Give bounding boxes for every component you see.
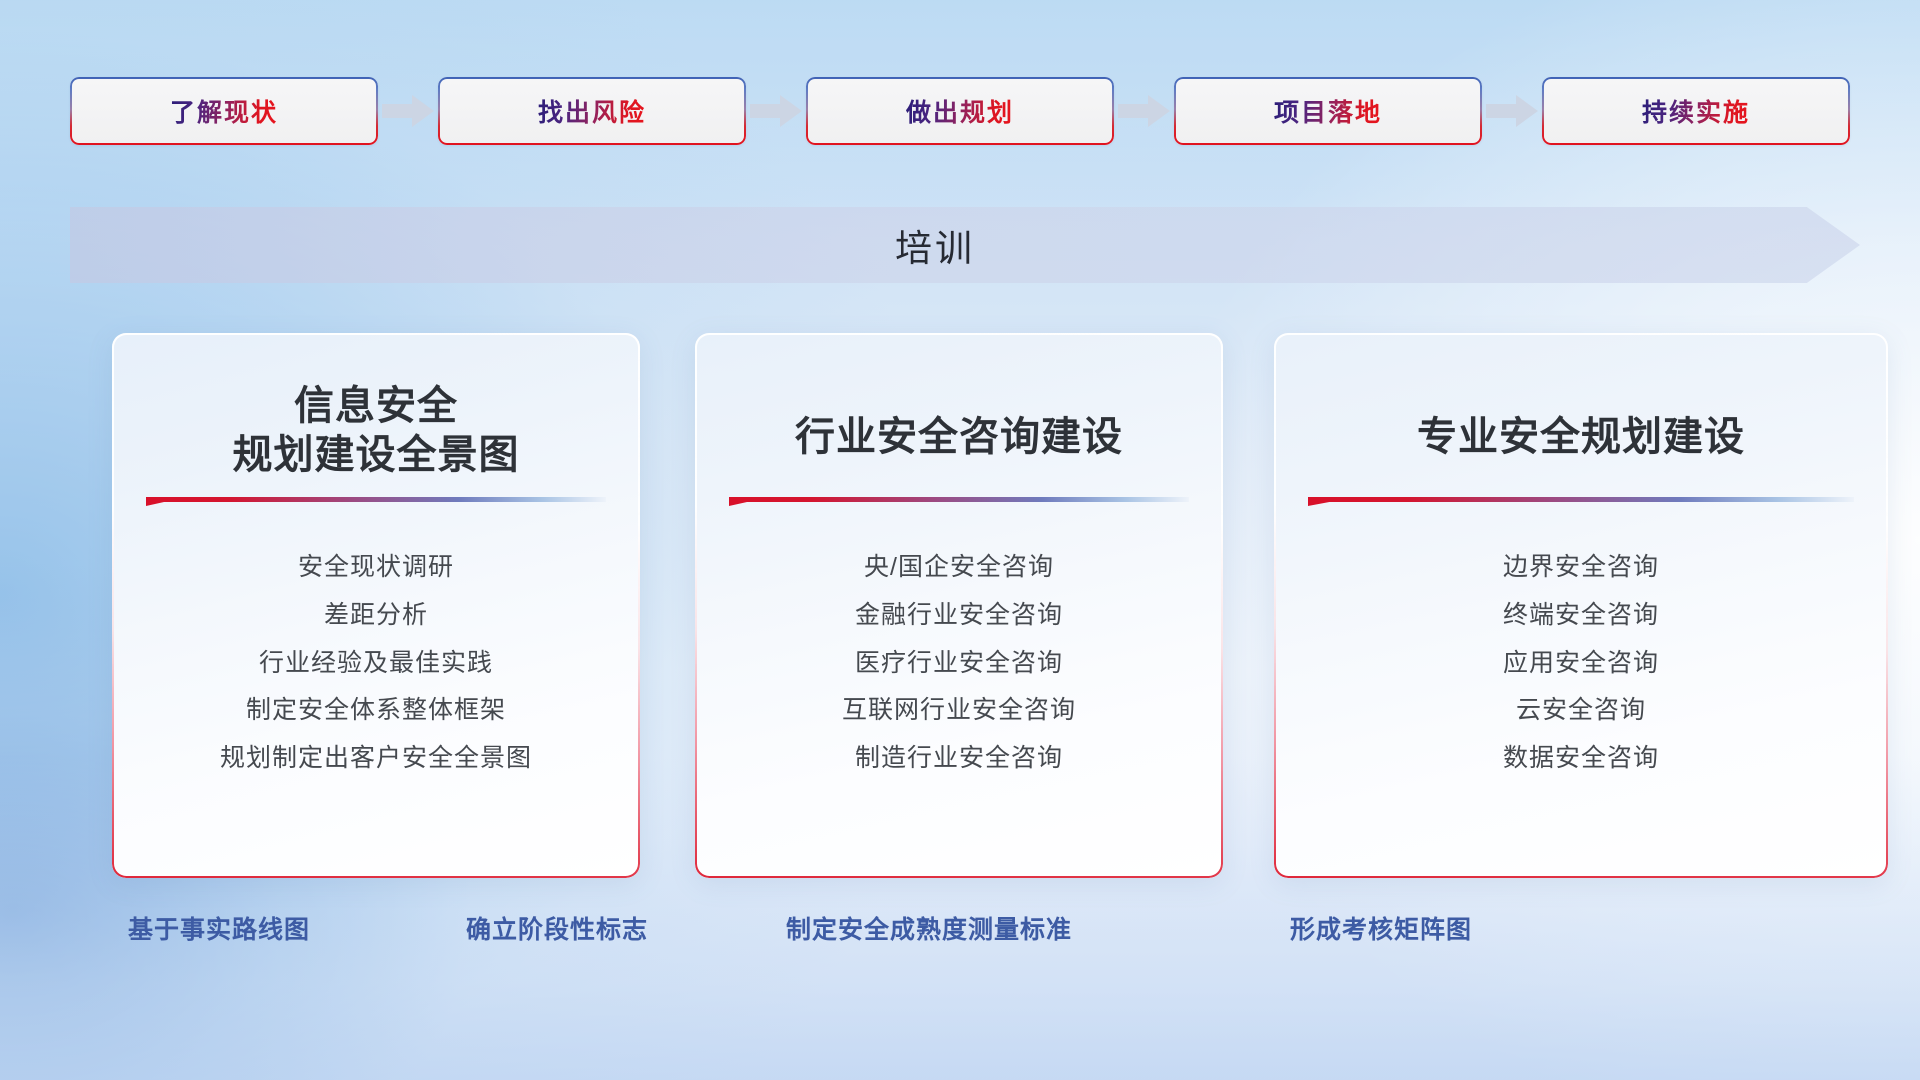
card-title: 信息安全 规划建设全景图 [146,333,606,493]
step-arrow-1 [378,94,438,128]
step-box-1[interactable]: 了解现状 [70,77,378,145]
step-label: 做出规划 [906,93,1014,129]
list-item: 云安全咨询 [1516,694,1646,728]
card-inner: 信息安全 规划建设全景图 [112,333,640,878]
card-industry-security-consulting[interactable]: 行业安全咨询建设 [695,333,1223,878]
card-divider [146,495,606,509]
card-divider [729,495,1189,509]
step-arrow-2 [746,94,806,128]
card-title-line: 专业安全规划建设 [1308,413,1854,462]
card-item-list: 央/国企安全咨询 金融行业安全咨询 医疗行业安全咨询 互联网行业安全咨询 制造行… [729,551,1189,776]
list-item: 央/国企安全咨询 [864,551,1054,585]
footer-label: 制定安全成熟度测量标准 [786,910,1072,946]
card-title-line: 规划建设全景图 [146,431,606,480]
footer-label: 确立阶段性标志 [466,910,648,946]
step-arrow-4 [1482,94,1542,128]
list-item: 金融行业安全咨询 [855,599,1063,633]
footer-label: 形成考核矩阵图 [1290,910,1472,946]
card-inner: 专业安全规划建设 [1274,333,1888,878]
list-item: 行业经验及最佳实践 [259,647,493,681]
list-item: 医疗行业安全咨询 [855,647,1063,681]
step-label: 项目落地 [1274,93,1382,129]
card-information-security-blueprint[interactable]: 信息安全 规划建设全景图 [112,333,640,878]
slide-canvas: 了解现状 找出风险 做出规划 项目落地 [0,0,1920,1080]
card-title: 行业安全咨询建设 [729,333,1189,493]
footer-label: 基于事实路线图 [128,910,310,946]
list-item: 安全现状调研 [298,551,454,585]
step-arrow-3 [1114,94,1174,128]
card-inner: 行业安全咨询建设 [695,333,1223,878]
list-item: 数据安全咨询 [1503,742,1659,776]
list-item: 互联网行业安全咨询 [842,694,1076,728]
card-item-list: 边界安全咨询 终端安全咨询 应用安全咨询 云安全咨询 数据安全咨询 [1308,551,1854,776]
step-box-2[interactable]: 找出风险 [438,77,746,145]
step-box-4[interactable]: 项目落地 [1174,77,1482,145]
step-label: 找出风险 [538,93,646,129]
process-step-row: 了解现状 找出风险 做出规划 项目落地 [70,76,1850,146]
step-box-5[interactable]: 持续实施 [1542,77,1850,145]
step-label: 持续实施 [1642,93,1750,129]
card-professional-security-planning[interactable]: 专业安全规划建设 [1274,333,1888,878]
step-label: 了解现状 [170,93,278,129]
list-item: 边界安全咨询 [1503,551,1659,585]
footer-label-row: 基于事实路线图 确立阶段性标志 制定安全成熟度测量标准 形成考核矩阵图 [0,910,1920,970]
card-title: 专业安全规划建设 [1308,333,1854,493]
step-box-3[interactable]: 做出规划 [806,77,1114,145]
card-row: 信息安全 规划建设全景图 [0,333,1920,878]
card-title-line: 信息安全 [146,382,606,431]
list-item: 终端安全咨询 [1503,599,1659,633]
list-item: 制造行业安全咨询 [855,742,1063,776]
card-title-line: 行业安全咨询建设 [729,413,1189,462]
list-item: 差距分析 [324,599,428,633]
banner-title: 培训 [70,207,1860,283]
training-banner: 培训 [70,207,1860,283]
card-item-list: 安全现状调研 差距分析 行业经验及最佳实践 制定安全体系整体框架 规划制定出客户… [146,551,606,776]
list-item: 规划制定出客户安全全景图 [220,742,532,776]
list-item: 制定安全体系整体框架 [246,694,506,728]
list-item: 应用安全咨询 [1503,647,1659,681]
card-divider [1308,495,1854,509]
